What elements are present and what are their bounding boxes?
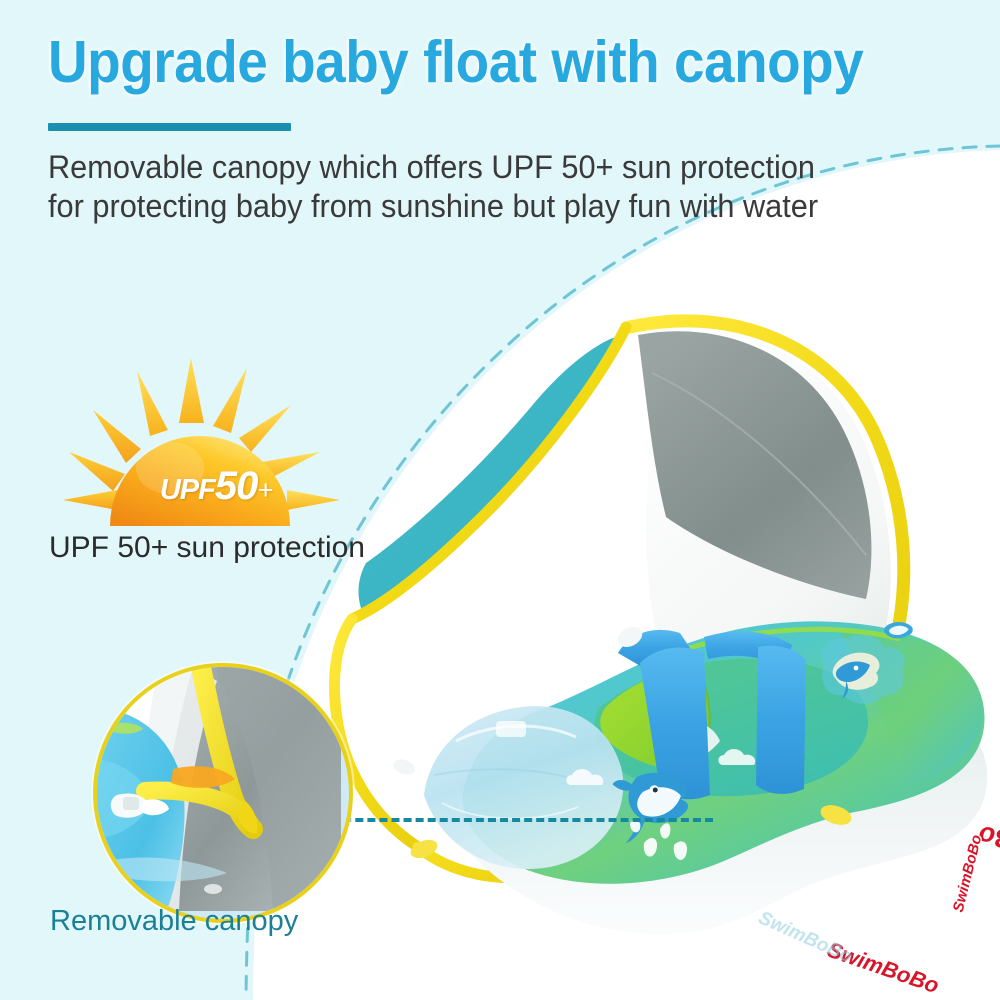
upf-value: 50 [215,464,258,508]
upf-prefix: UPF [160,474,215,506]
header-block: Upgrade baby float with canopy Removable… [48,30,968,94]
upf-plus: + [257,475,272,505]
page-subtitle: Removable canopy which offers UPF 50+ su… [48,148,845,225]
canopy-teal-wing [359,335,622,611]
harness-strap-right [756,646,806,794]
infographic-canvas: Upgrade baby float with canopy Removable… [0,0,1000,1000]
product-image: SwimBoBo SwimBoBo SwimBoBo SwimBoBo Swim… [300,255,1000,935]
baby-float-with-canopy-graphic [300,255,1000,935]
page-title: Upgrade baby float with canopy [48,30,904,94]
removable-canopy-detail-inset [93,663,353,923]
upf-badge-text: UPF50+ [131,464,301,509]
inset-caption: Removable canopy [50,905,380,938]
title-underline-bar [48,123,291,131]
air-valve [391,757,416,778]
inset-closeup-graphic [97,667,341,911]
